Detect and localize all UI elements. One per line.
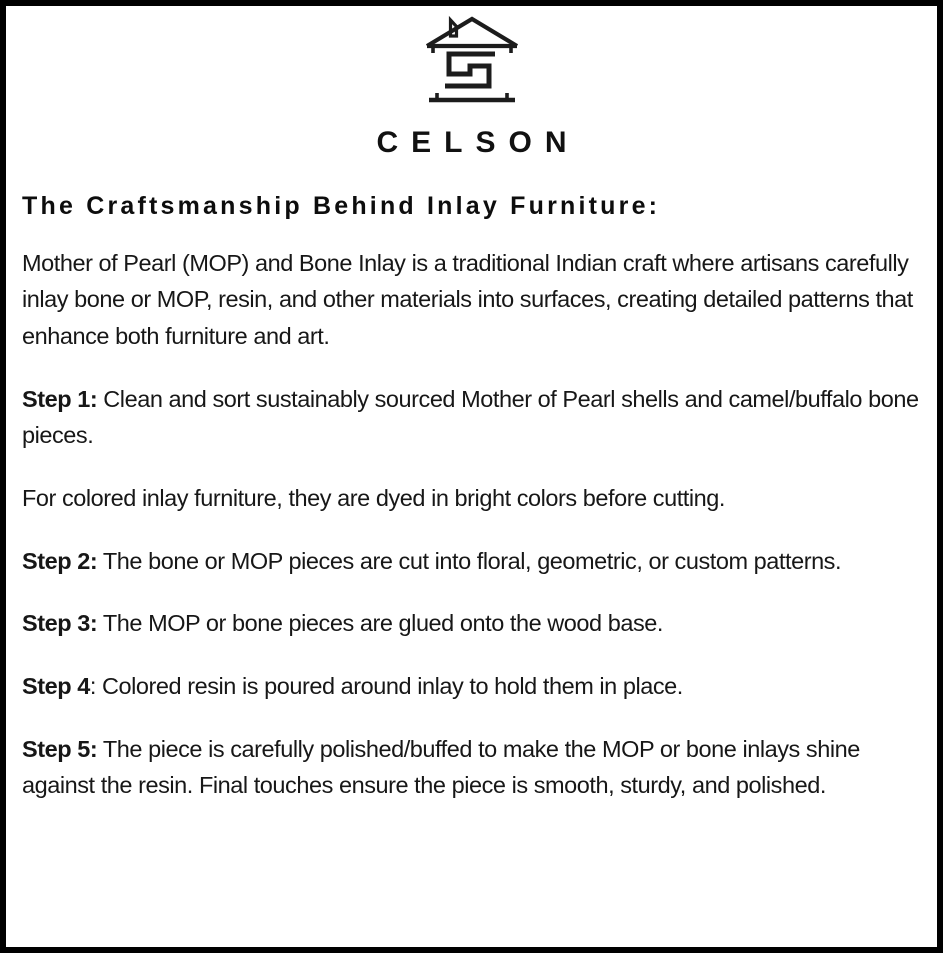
paragraph-lead: Step 1: xyxy=(22,386,97,412)
paragraph-lead: Step 3: xyxy=(22,610,97,636)
brand-name: CELSON xyxy=(16,128,927,158)
paragraph-text: : Colored resin is poured around inlay t… xyxy=(90,673,683,699)
paragraph-lead: Step 4 xyxy=(22,673,90,699)
paragraph-colored-inlay-note: For colored inlay furniture, they are dy… xyxy=(22,480,921,517)
house-monogram-icon xyxy=(423,14,521,114)
paragraph-text: The bone or MOP pieces are cut into flor… xyxy=(97,548,841,574)
paragraph-step-2: Step 2: The bone or MOP pieces are cut i… xyxy=(22,543,921,580)
paragraph-text: The MOP or bone pieces are glued onto th… xyxy=(97,610,663,636)
poster-frame: CELSON The Craftsmanship Behind Inlay Fu… xyxy=(0,0,943,953)
paragraph-step-4: Step 4: Colored resin is poured around i… xyxy=(22,668,921,705)
paragraph-lead: Step 2: xyxy=(22,548,97,574)
paragraph-step-1: Step 1: Clean and sort sustainably sourc… xyxy=(22,381,921,454)
paragraph-lead: Step 5: xyxy=(22,736,97,762)
paragraph-step-3: Step 3: The MOP or bone pieces are glued… xyxy=(22,605,921,642)
page-title: The Craftsmanship Behind Inlay Furniture… xyxy=(16,192,927,221)
paragraph-intro: Mother of Pearl (MOP) and Bone Inlay is … xyxy=(22,245,921,355)
poster-content: CELSON The Craftsmanship Behind Inlay Fu… xyxy=(6,6,937,947)
brand-block: CELSON xyxy=(16,6,927,158)
body-copy: Mother of Pearl (MOP) and Bone Inlay is … xyxy=(16,245,927,804)
paragraph-step-5: Step 5: The piece is carefully polished/… xyxy=(22,731,921,804)
paragraph-text: Mother of Pearl (MOP) and Bone Inlay is … xyxy=(22,250,913,349)
paragraph-text: For colored inlay furniture, they are dy… xyxy=(22,485,725,511)
paragraph-text: Clean and sort sustainably sourced Mothe… xyxy=(22,386,919,449)
paragraph-text: The piece is carefully polished/buffed t… xyxy=(22,736,860,799)
